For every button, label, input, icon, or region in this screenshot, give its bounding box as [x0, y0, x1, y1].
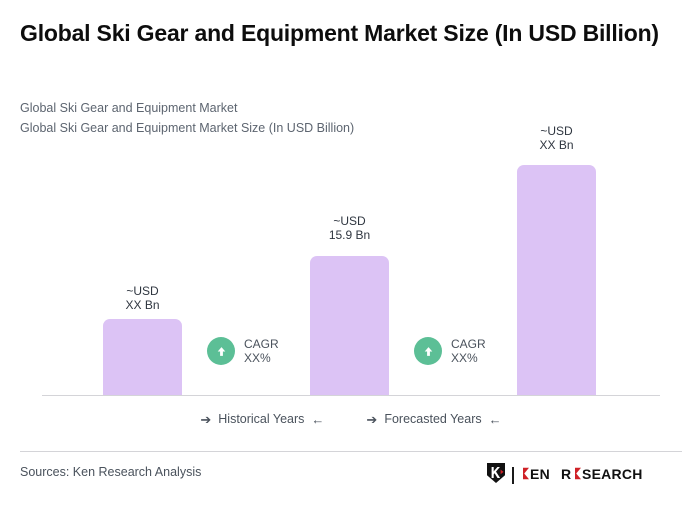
axis-period-forecasted: ➔ Forecasted Years ← [366, 412, 501, 426]
footer-divider [20, 451, 682, 452]
cagr-text: CAGR XX% [451, 337, 486, 366]
bar-forecast[interactable] [517, 165, 596, 395]
bar-value-amount: 15.9 Bn [310, 228, 389, 242]
bar-value-currency: ~USD [517, 124, 596, 138]
cagr-label: CAGR [451, 337, 486, 351]
shield-k-icon [486, 462, 506, 489]
svg-text:R: R [561, 466, 571, 482]
cagr-value: XX% [451, 351, 486, 365]
ken-research-logo: EN R SEARCH [486, 462, 670, 489]
cagr-badge: CAGR XX% [414, 337, 486, 366]
bar-value-label: ~USD 15.9 Bn [310, 214, 389, 243]
sources-text: Sources: Ken Research Analysis [20, 465, 201, 479]
cagr-text: CAGR XX% [244, 337, 279, 366]
arrow-up-icon [414, 337, 442, 365]
axis-period-label: Forecasted Years [384, 412, 481, 426]
arrow-up-icon [207, 337, 235, 365]
cagr-badge: CAGR XX% [207, 337, 279, 366]
arrow-left-icon: ← [311, 413, 324, 426]
arrow-right-icon: ➔ [366, 413, 377, 426]
bar-value-label: ~USD XX Bn [103, 284, 182, 313]
svg-text:EN: EN [530, 466, 550, 482]
bar-value-amount: XX Bn [517, 138, 596, 152]
axis-period-historical: ➔ Historical Years ← [200, 412, 324, 426]
chart-baseline [42, 395, 660, 396]
bar-current[interactable] [310, 256, 389, 395]
axis-period-legend: ➔ Historical Years ← ➔ Forecasted Years … [42, 408, 660, 430]
bar-value-amount: XX Bn [103, 298, 182, 312]
arrow-right-icon: ➔ [200, 413, 211, 426]
bar-value-label: ~USD XX Bn [517, 124, 596, 153]
cagr-label: CAGR [244, 337, 279, 351]
arrow-left-icon: ← [489, 413, 502, 426]
axis-period-label: Historical Years [218, 412, 304, 426]
logo-divider [512, 467, 514, 484]
chart-page: Global Ski Gear and Equipment Market Siz… [0, 0, 700, 520]
svg-text:SEARCH: SEARCH [582, 466, 643, 482]
bar-value-currency: ~USD [103, 284, 182, 298]
cagr-value: XX% [244, 351, 279, 365]
bar-chart: ~USD XX Bn CAGR XX% ~USD 15.9 Bn [0, 0, 700, 520]
brand-wordmark: EN R SEARCH [520, 464, 670, 488]
bar-value-currency: ~USD [310, 214, 389, 228]
bar-historical[interactable] [103, 319, 182, 395]
